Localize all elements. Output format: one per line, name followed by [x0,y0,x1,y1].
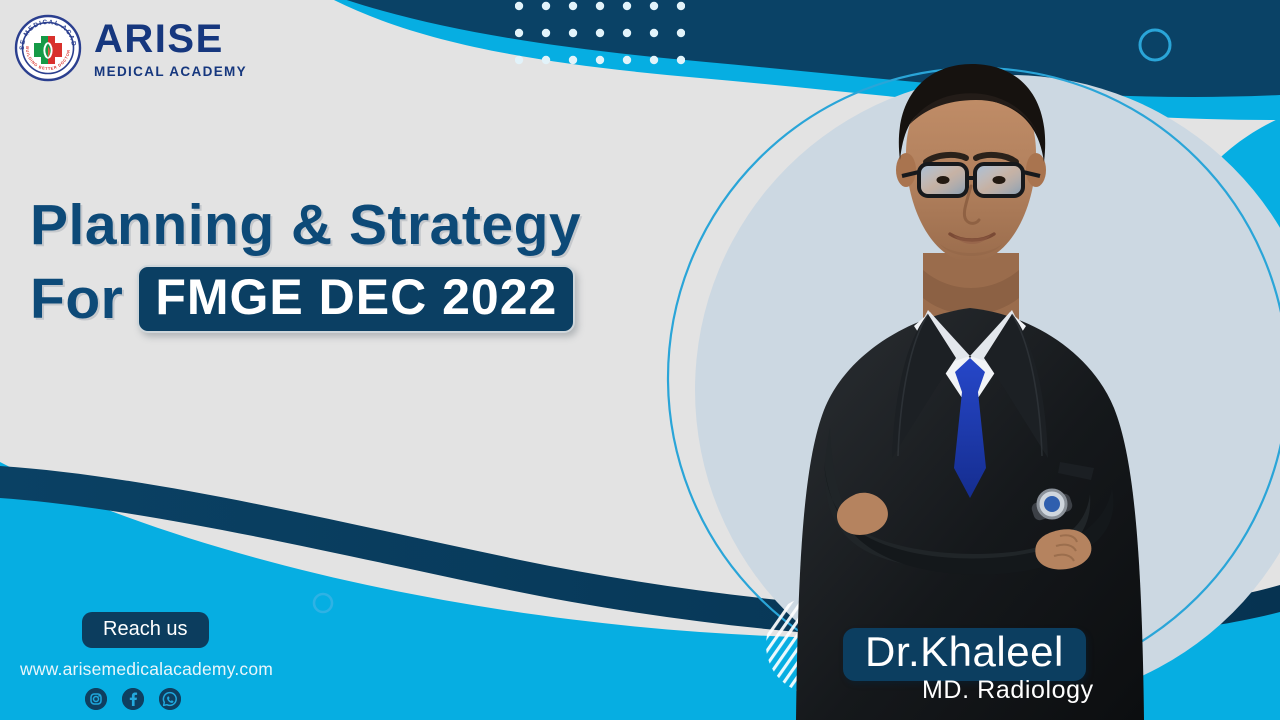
presenter-name: Dr.Khaleel [865,628,1064,675]
instagram-icon[interactable] [85,688,107,710]
brand-name: ARISE [94,19,247,59]
website-url[interactable]: www.arisemedicalacademy.com [20,659,273,680]
facebook-icon[interactable] [122,688,144,710]
social-links [85,688,181,710]
headline-line-2: For FMGE DEC 2022 [30,265,581,333]
page-title: Planning & Strategy For FMGE DEC 2022 [30,196,581,333]
headline-prefix: For [30,270,123,329]
presenter-photo [760,58,1180,720]
presenter-name-badge: Dr.Khaleel [843,628,1086,681]
brand-logo[interactable]: ARISE MEDICAL ACADEMY BUILDING BETTER DO… [14,14,247,82]
reach-us-button[interactable]: Reach us [82,612,209,648]
top-dot-grid [515,0,685,82]
brand-tagline: MEDICAL ACADEMY [94,65,247,79]
whatsapp-icon[interactable] [159,688,181,710]
medical-cross-flame-badge-icon: ARISE MEDICAL ACADEMY BUILDING BETTER DO… [14,14,82,82]
presenter-degree: MD. Radiology [922,676,1094,705]
brand-wordmark: ARISE MEDICAL ACADEMY [94,17,247,79]
headline-line-1: Planning & Strategy [30,196,581,255]
slide-canvas: ARISE MEDICAL ACADEMY BUILDING BETTER DO… [0,0,1280,720]
exam-badge: FMGE DEC 2022 [137,265,575,333]
